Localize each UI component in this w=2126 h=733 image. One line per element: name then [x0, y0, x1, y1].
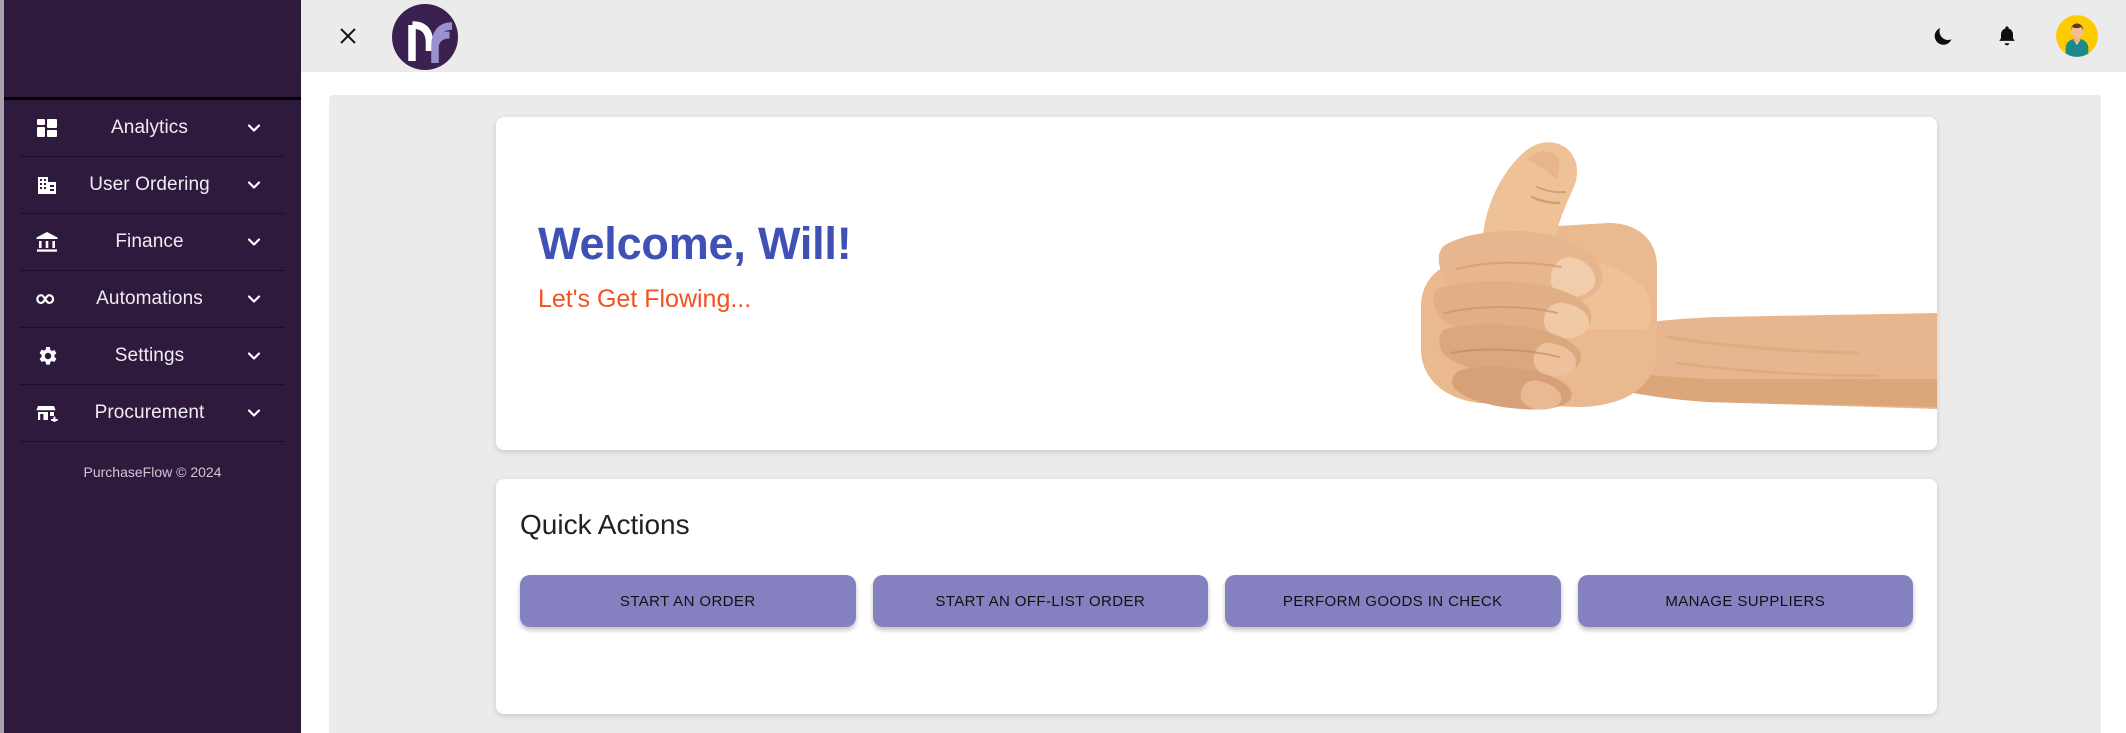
page-subtitle: Let's Get Flowing... — [538, 287, 852, 312]
perform-goods-in-check-button[interactable]: PERFORM GOODS IN CHECK — [1225, 575, 1561, 627]
quick-actions-title: Quick Actions — [520, 509, 1913, 541]
sidebar: Analytics — [4, 0, 301, 733]
sidebar-footer-copyright: PurchaseFlow © 2024 — [4, 464, 301, 480]
sidebar-item-label: Automations — [60, 288, 243, 310]
chevron-down-icon[interactable] — [243, 231, 265, 253]
chevron-down-icon[interactable] — [243, 402, 265, 424]
sidebar-item-label: Analytics — [60, 117, 243, 139]
sidebar-nav: Analytics — [4, 100, 301, 442]
start-an-order-button[interactable]: START AN ORDER — [520, 575, 856, 627]
thumbs-up-hand-icon — [1337, 117, 1937, 450]
close-icon[interactable] — [331, 19, 365, 53]
gear-icon — [34, 343, 60, 369]
page-title: Welcome, Will! — [538, 221, 852, 266]
dashboard-grid-icon — [34, 115, 60, 141]
infinity-icon — [34, 286, 60, 312]
quick-actions-button-row: START AN ORDER START AN OFF-LIST ORDER P… — [520, 575, 1913, 627]
sidebar-item-procurement[interactable]: Procurement — [20, 385, 285, 442]
welcome-banner: Welcome, Will! Let's Get Flowing... — [496, 117, 1937, 450]
building-icon — [34, 172, 60, 198]
quick-actions-card: Quick Actions START AN ORDER START AN OF… — [496, 479, 1937, 714]
sidebar-item-automations[interactable]: Automations — [20, 271, 285, 328]
chevron-down-icon[interactable] — [243, 117, 265, 139]
sidebar-item-finance[interactable]: Finance — [20, 214, 285, 271]
user-avatar[interactable] — [2056, 15, 2098, 57]
sidebar-item-label: User Ordering — [60, 174, 243, 196]
chevron-down-icon[interactable] — [243, 345, 265, 367]
bell-icon[interactable] — [1992, 21, 2022, 51]
sidebar-item-label: Finance — [60, 231, 243, 253]
sidebar-item-label: Procurement — [60, 402, 243, 424]
topbar-actions — [1928, 15, 2098, 57]
start-an-off-list-order-button[interactable]: START AN OFF-LIST ORDER — [873, 575, 1209, 627]
bank-icon — [34, 229, 60, 255]
main-content: Welcome, Will! Let's Get Flowing... — [301, 72, 2126, 733]
chevron-down-icon[interactable] — [243, 288, 265, 310]
purchaseflow-logo-icon[interactable] — [391, 3, 459, 71]
storefront-add-icon — [34, 400, 60, 426]
moon-icon[interactable] — [1928, 21, 1958, 51]
chevron-down-icon[interactable] — [243, 174, 265, 196]
sidebar-header — [4, 0, 301, 100]
sidebar-item-label: Settings — [60, 345, 243, 367]
topbar — [301, 0, 2126, 72]
sidebar-item-user-ordering[interactable]: User Ordering — [20, 157, 285, 214]
app-root: Analytics — [0, 0, 2126, 733]
sidebar-item-analytics[interactable]: Analytics — [20, 100, 285, 157]
sidebar-item-settings[interactable]: Settings — [20, 328, 285, 385]
manage-suppliers-button[interactable]: MANAGE SUPPLIERS — [1578, 575, 1914, 627]
content-surface: Welcome, Will! Let's Get Flowing... — [329, 95, 2101, 733]
welcome-text-block: Welcome, Will! Let's Get Flowing... — [538, 221, 852, 312]
